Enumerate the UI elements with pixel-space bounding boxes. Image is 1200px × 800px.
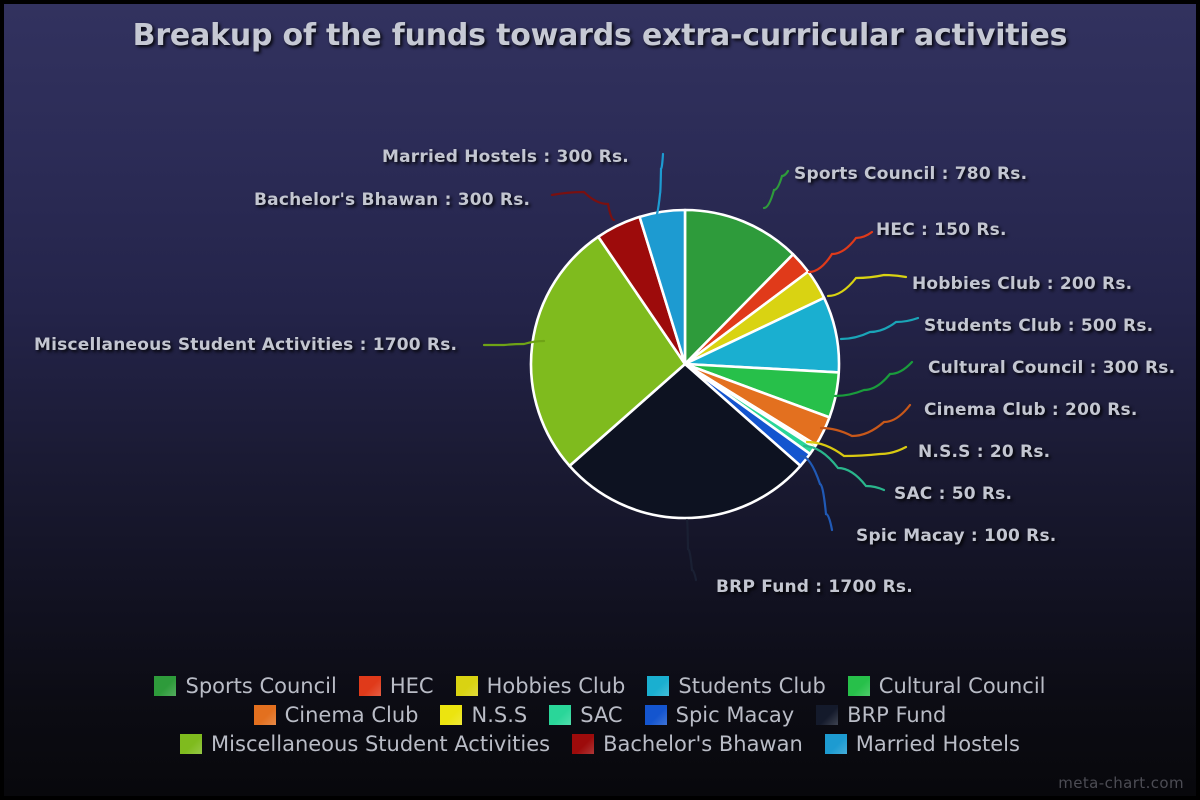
slice-label-bachelors-bhawan: Bachelor's Bhawan : 300 Rs. xyxy=(254,190,530,210)
legend-swatch-icon xyxy=(816,705,838,725)
leader-line-brp-fund xyxy=(687,520,696,580)
chart-container: Breakup of the funds towards extra-curri… xyxy=(0,0,1200,800)
slice-label-hobbies-club: Hobbies Club : 200 Rs. xyxy=(912,274,1132,294)
legend-swatch-icon xyxy=(647,676,669,696)
legend-item-students-club[interactable]: Students Club xyxy=(647,675,825,697)
legend-swatch-icon xyxy=(359,676,381,696)
legend-label: Cultural Council xyxy=(879,675,1046,697)
legend-label: N.S.S xyxy=(471,704,527,726)
slice-label-miscellaneous: Miscellaneous Student Activities : 1700 … xyxy=(34,335,457,355)
legend-label: Spic Macay xyxy=(676,704,795,726)
legend-item-hec[interactable]: HEC xyxy=(359,675,434,697)
slice-label-cultural-council: Cultural Council : 300 Rs. xyxy=(928,358,1175,378)
legend-item-sac[interactable]: SAC xyxy=(549,704,622,726)
leader-line-bachelors-bhawan xyxy=(552,192,614,220)
legend-label: Bachelor's Bhawan xyxy=(603,733,803,755)
legend-label: Students Club xyxy=(678,675,825,697)
legend-item-hobbies-club[interactable]: Hobbies Club xyxy=(456,675,626,697)
legend-item-spic-macay[interactable]: Spic Macay xyxy=(645,704,795,726)
legend-swatch-icon xyxy=(848,676,870,696)
leader-line-students-club xyxy=(841,318,918,339)
legend-swatch-icon xyxy=(154,676,176,696)
leader-line-hobbies-club xyxy=(828,275,906,296)
legend-item-n-s-s[interactable]: N.S.S xyxy=(440,704,527,726)
legend-item-sports-council[interactable]: Sports Council xyxy=(154,675,336,697)
legend-label: Hobbies Club xyxy=(487,675,626,697)
leader-line-sac xyxy=(804,446,884,490)
watermark: meta-chart.com xyxy=(1058,774,1184,792)
slice-label-brp-fund: BRP Fund : 1700 Rs. xyxy=(716,577,913,597)
legend-label: HEC xyxy=(390,675,434,697)
slice-label-hec: HEC : 150 Rs. xyxy=(876,220,1007,240)
slice-label-married-hostels: Married Hostels : 300 Rs. xyxy=(382,147,629,167)
legend-row: Cinema ClubN.S.SSACSpic MacayBRP Fund xyxy=(4,701,1196,729)
leader-line-spic-macay xyxy=(801,456,832,530)
leader-line-married-hostels xyxy=(655,154,663,218)
leader-line-hec xyxy=(809,232,872,272)
legend-item-brp-fund[interactable]: BRP Fund xyxy=(816,704,946,726)
legend-item-married-hostels[interactable]: Married Hostels xyxy=(825,733,1020,755)
legend-swatch-icon xyxy=(572,734,594,754)
slice-label-spic-macay: Spic Macay : 100 Rs. xyxy=(856,526,1056,546)
legend-item-cultural-council[interactable]: Cultural Council xyxy=(848,675,1046,697)
legend-label: BRP Fund xyxy=(847,704,946,726)
slice-label-cinema-club: Cinema Club : 200 Rs. xyxy=(924,400,1138,420)
leader-line-cinema-club xyxy=(821,405,910,436)
leader-line-cultural-council xyxy=(835,362,912,396)
legend-row: Miscellaneous Student ActivitiesBachelor… xyxy=(4,730,1196,758)
leader-line-nss xyxy=(807,442,906,456)
legend-swatch-icon xyxy=(254,705,276,725)
legend-swatch-icon xyxy=(549,705,571,725)
legend-swatch-icon xyxy=(456,676,478,696)
legend-label: SAC xyxy=(580,704,622,726)
pie-slice-group xyxy=(531,210,839,518)
slice-label-sac: SAC : 50 Rs. xyxy=(894,484,1012,504)
legend-swatch-icon xyxy=(645,705,667,725)
leader-line-sports-council xyxy=(764,171,788,208)
legend-item-bachelor-s-bhawan[interactable]: Bachelor's Bhawan xyxy=(572,733,803,755)
chart-legend: Sports CouncilHECHobbies ClubStudents Cl… xyxy=(4,672,1196,759)
legend-label: Sports Council xyxy=(185,675,336,697)
legend-item-cinema-club[interactable]: Cinema Club xyxy=(254,704,419,726)
legend-item-miscellaneous-student-activities[interactable]: Miscellaneous Student Activities xyxy=(180,733,550,755)
slice-label-students-club: Students Club : 500 Rs. xyxy=(924,316,1153,336)
legend-swatch-icon xyxy=(180,734,202,754)
legend-swatch-icon xyxy=(440,705,462,725)
legend-swatch-icon xyxy=(825,734,847,754)
legend-label: Miscellaneous Student Activities xyxy=(211,733,550,755)
legend-label: Married Hostels xyxy=(856,733,1020,755)
slice-label-nss: N.S.S : 20 Rs. xyxy=(918,442,1050,462)
slice-label-sports-council: Sports Council : 780 Rs. xyxy=(794,164,1027,184)
legend-row: Sports CouncilHECHobbies ClubStudents Cl… xyxy=(4,672,1196,700)
legend-label: Cinema Club xyxy=(285,704,419,726)
